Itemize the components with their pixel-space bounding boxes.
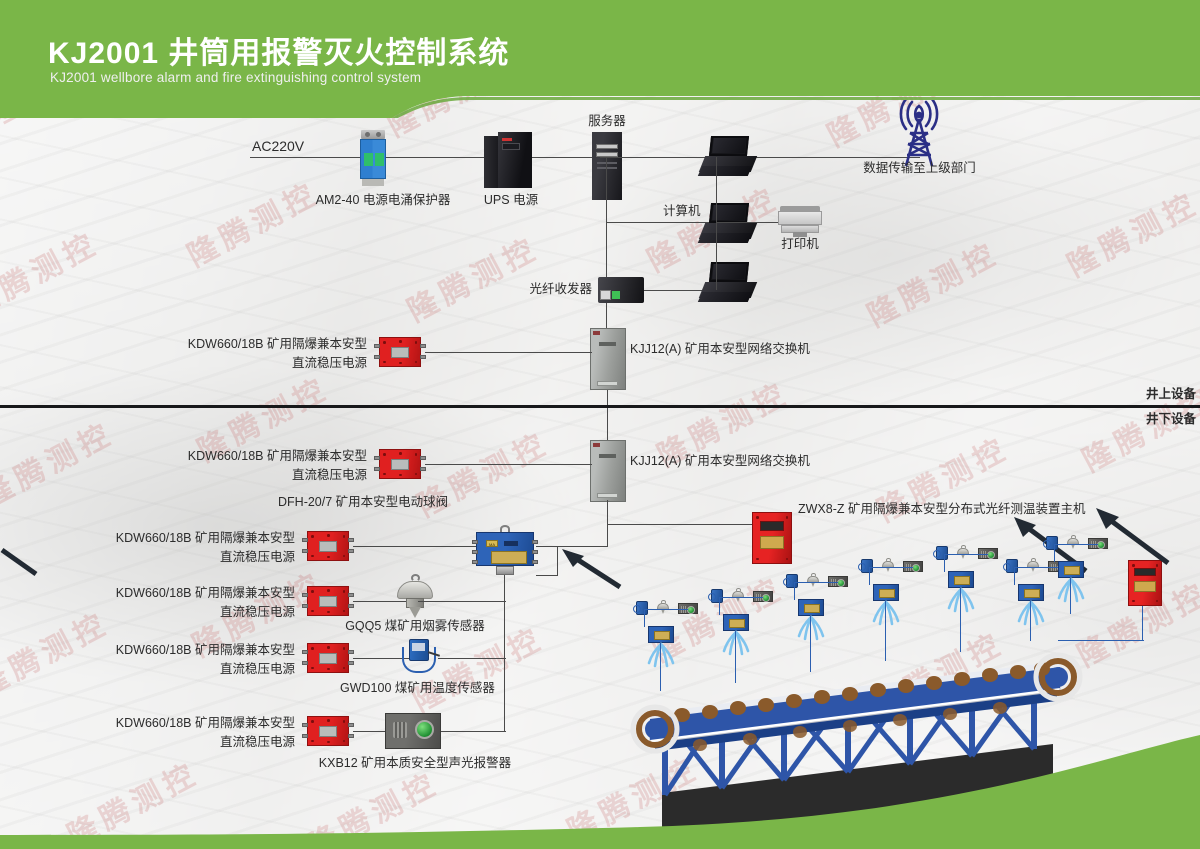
power-supply-label-line1: KDW660/18B 矿用隔爆兼本安型: [155, 448, 367, 465]
power-supply-device: [303, 643, 353, 673]
temperature-sensor-device: [398, 637, 438, 679]
temperature-sensor-label: GWD100 煤矿用温度传感器: [340, 680, 490, 697]
underground-switch-power-wire: [425, 464, 592, 465]
flow-sensor-icon: [861, 559, 873, 573]
station-drop-wire: [660, 643, 661, 691]
power-supply-label-line2: 直流稳压电源: [155, 467, 367, 484]
surface-underground-divider: [0, 405, 1200, 408]
control-box-icon: [798, 599, 824, 616]
ball-valve-device: MA: [472, 528, 538, 568]
station-drop-wire: [735, 631, 736, 683]
station-drop-wire: [960, 588, 961, 652]
antenna-device: [888, 100, 950, 168]
power-supply-label-line2: 直流稳压电源: [75, 661, 295, 678]
fiber-transceiver-device: [598, 277, 644, 303]
sensor-collector-bus: [504, 601, 505, 732]
power-supply-device: [303, 531, 353, 561]
sprinkler-station: [855, 558, 933, 628]
smoke-detector-icon: [1066, 535, 1080, 549]
above-ground-label: 井上设备: [1146, 386, 1196, 403]
sprinkler-station: [930, 545, 1008, 615]
switch-to-power-wire: [425, 352, 592, 353]
flow-sensor-icon: [711, 589, 723, 603]
ac220v-label: AC220V: [252, 138, 304, 155]
ps2-to-valve-wire: [353, 546, 476, 547]
control-box-icon: [648, 626, 674, 643]
flow-sensor-icon: [636, 601, 648, 615]
power-supply-device: [375, 337, 425, 367]
smoke-detector-icon: [656, 600, 670, 614]
printer-device: [778, 206, 822, 238]
station-wire: [719, 597, 763, 598]
belt-head-wire-h: [1058, 640, 1144, 641]
smoke-detector-icon: [881, 558, 895, 572]
power-supply-label-line1: KDW660/18B 矿用隔爆兼本安型: [75, 530, 295, 547]
temp-branch-wire: [438, 658, 506, 659]
control-box-icon: [873, 584, 899, 601]
system-diagram-page: 隆腾测控 隆腾测控 隆腾测控 隆腾测控 隆腾测控 隆腾测控 隆腾测控 隆腾测控 …: [0, 0, 1200, 849]
station-wire: [794, 582, 795, 600]
sprinkler-station: [705, 588, 783, 658]
network-switch-device: [590, 328, 626, 390]
server-to-antenna-wire: [600, 157, 920, 158]
valve-out-wire: [536, 575, 558, 576]
page-subtitle: KJ2001 wellbore alarm and fire extinguis…: [50, 70, 421, 85]
page-title: KJ2001 井筒用报警灭火控制系统: [48, 28, 509, 72]
station-wire: [1054, 544, 1055, 562]
smoke-detector-icon: [731, 588, 745, 602]
control-box-icon: [948, 571, 974, 588]
underground-switch-device: [590, 440, 626, 502]
sprinkler-station: [630, 600, 708, 670]
smoke-sensor-label: GQQ5 煤矿用烟雾传感器: [345, 618, 485, 635]
smoke-detector-icon: [806, 573, 820, 587]
left-edge-arrow: [0, 546, 40, 583]
computer-device: [700, 262, 756, 306]
ac-power-bus: [250, 157, 600, 158]
network-switch-label: KJJ12(A) 矿用本安型网络交换机: [630, 341, 810, 358]
station-wire: [644, 609, 645, 627]
computer-device: [700, 203, 756, 247]
switch-to-zwx-wire: [607, 524, 752, 525]
power-supply-device: [375, 449, 425, 479]
smoke-detector-icon: [1026, 558, 1040, 572]
power-supply-label-line2: 直流稳压电源: [155, 355, 367, 372]
switch-down-wire: [607, 390, 608, 445]
below-ground-label: 井下设备: [1146, 411, 1196, 428]
station-drop-wire: [1070, 578, 1071, 614]
flow-sensor-icon: [1006, 559, 1018, 573]
station-wire: [719, 597, 720, 615]
sprinkler-station: [780, 573, 858, 643]
switch-to-valve-trunk: [607, 500, 608, 546]
smoke-sensor-device: [393, 574, 437, 620]
power-supply-label-line1: KDW660/18B 矿用隔爆兼本安型: [75, 585, 295, 602]
station-wire: [644, 609, 688, 610]
control-box-icon: [723, 614, 749, 631]
belt-controller-pointer-arrow: [1092, 505, 1172, 572]
surge-protector-label: AM2-40 电源电涌保护器: [305, 192, 461, 209]
ball-valve-label: DFH-20/7 矿用本安型电动球阀: [278, 494, 448, 511]
station-wire: [869, 567, 913, 568]
page-footer: [0, 729, 1200, 849]
valve-out-riser: [557, 546, 558, 576]
power-supply-label-line2: 直流稳压电源: [75, 549, 295, 566]
computer-stack-wire: [716, 157, 717, 290]
server-trunk-wire: [606, 157, 607, 290]
ups-device: [484, 132, 532, 188]
pc-to-printer-wire: [716, 222, 778, 223]
ups-label: UPS 电源: [465, 192, 557, 209]
smoke-detector-icon: [956, 545, 970, 559]
power-supply-label-line1: KDW660/18B 矿用隔爆兼本安型: [75, 642, 295, 659]
smoke-branch-wire: [418, 601, 506, 602]
station-wire: [869, 567, 870, 585]
station-drop-wire: [1030, 601, 1031, 641]
underground-switch-label: KJJ12(A) 矿用本安型网络交换机: [630, 453, 810, 470]
control-box-icon: [1058, 561, 1084, 578]
station-drop-wire: [885, 601, 886, 661]
server-label: 服务器: [575, 113, 639, 130]
power-supply-label-line2: 直流稳压电源: [75, 604, 295, 621]
surge-protector-device: [358, 130, 388, 186]
fiber-transceiver-label: 光纤收发器: [510, 281, 592, 298]
computer-device: [700, 136, 756, 180]
station-wire: [794, 582, 838, 583]
power-supply-device: [303, 586, 353, 616]
flow-sensor-icon: [1046, 536, 1058, 550]
flow-sensor-icon: [786, 574, 798, 588]
antenna-label: 数据传输至上级部门: [852, 160, 987, 177]
printer-label: 打印机: [768, 236, 832, 253]
station-wire: [944, 554, 988, 555]
station-drop-wire: [810, 616, 811, 672]
station-wire: [944, 554, 945, 572]
computer-label: 计算机: [663, 203, 701, 220]
flow-sensor-icon: [936, 546, 948, 560]
power-supply-label-line1: KDW660/18B 矿用隔爆兼本安型: [155, 336, 367, 353]
belt-head-wire-v: [1142, 606, 1143, 641]
station-wire: [1014, 567, 1015, 585]
